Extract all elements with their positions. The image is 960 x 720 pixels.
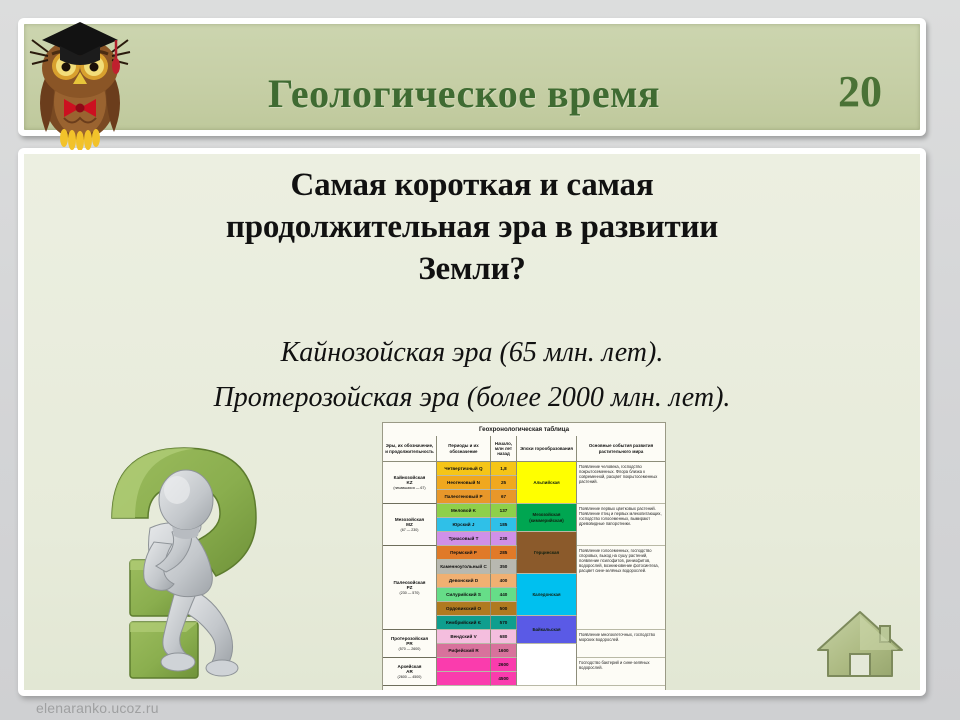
geo-age-cell: 230 xyxy=(491,532,517,546)
header-panel: Геологическое время 20 xyxy=(18,18,926,136)
geo-period-cell: Юрский J xyxy=(437,518,491,532)
geo-period-cell: Неогеновый N xyxy=(437,476,491,490)
geo-age-cell: 400 xyxy=(491,574,517,588)
geo-age-cell: 570 xyxy=(491,616,517,630)
geo-folding-cell: Мезозойская (киммерийская) xyxy=(517,504,577,532)
geo-period-cell: Палеогеновый P xyxy=(437,490,491,504)
geo-period-cell: Девонский D xyxy=(437,574,491,588)
geo-age-cell: 185 xyxy=(491,518,517,532)
geo-events-cell: Господство бактерий и сине-зелёных водор… xyxy=(577,658,665,686)
owl-graduate-icon xyxy=(16,10,144,150)
geo-age-cell: 1600 xyxy=(491,644,517,658)
home-button[interactable] xyxy=(814,602,906,684)
page-title: Геологическое время xyxy=(144,74,784,114)
geo-era-cell: ПалеозойскаяPZ(230 — 570) xyxy=(383,546,437,630)
geo-period-cell: Вендский V xyxy=(437,630,491,644)
slide-stage: Геологическое время 20 xyxy=(0,0,960,720)
answer-line-2: Протерозойская эра (более 2000 млн. лет)… xyxy=(44,375,900,420)
geo-period-cell: Силурийский S xyxy=(437,588,491,602)
geo-age-cell: 285 xyxy=(491,546,517,560)
question-line-3: Земли? xyxy=(54,248,890,290)
geo-era-cell: ПротерозойскаяPR(570 — 2600) xyxy=(383,630,437,658)
content-panel-inner: Самая короткая и самая продолжительная э… xyxy=(24,154,920,690)
question-line-2: продолжительная эра в развитии xyxy=(54,206,890,248)
geo-col-header: Эпохи горообразования xyxy=(517,436,577,462)
geo-folding-cell xyxy=(517,644,577,686)
geo-period-cell: Меловой K xyxy=(437,504,491,518)
geo-period-cell: Ордовикский O xyxy=(437,602,491,616)
geo-folding-cell: Герцинская xyxy=(517,532,577,574)
watermark: elenaranko.ucoz.ru xyxy=(36,700,159,716)
geo-col-header: Основные события развития растительного … xyxy=(577,436,665,462)
geo-events-cell: Появление голосеменных, господство споро… xyxy=(577,546,665,630)
geo-table-grid: Эры, их обозначение, и продолжительность… xyxy=(383,436,665,690)
geo-age-cell: 500 xyxy=(491,602,517,616)
question-points-badge: 20 xyxy=(838,70,882,114)
geo-folding-cell: Альпийская xyxy=(517,462,577,504)
geo-folding-cell: Каледонская xyxy=(517,574,577,616)
content-panel: Самая короткая и самая продолжительная э… xyxy=(18,148,926,696)
geo-period-cell: Кембрийский Є xyxy=(437,616,491,630)
geo-era-cell: АрхейскаяAR(2600 — 4500) xyxy=(383,658,437,686)
geo-period-cell xyxy=(437,658,491,672)
home-icon xyxy=(818,612,902,676)
geo-col-header: Эры, их обозначение, и продолжительность xyxy=(383,436,437,462)
geo-age-cell: 440 xyxy=(491,588,517,602)
geo-period-cell: Четвертичный Q xyxy=(437,462,491,476)
geo-events-cell: Появление человека, господство покрытосе… xyxy=(577,462,665,504)
geo-period-cell: Рифейский R xyxy=(437,644,491,658)
geo-age-cell: 680 xyxy=(491,630,517,644)
geo-age-cell: 2600 xyxy=(491,658,517,672)
geo-age-cell: 1,8 xyxy=(491,462,517,476)
question-text: Самая короткая и самая продолжительная э… xyxy=(54,164,890,291)
geo-age-cell: 67 xyxy=(491,490,517,504)
geo-age-cell: 137 xyxy=(491,504,517,518)
geo-age-cell: 350 xyxy=(491,560,517,574)
geo-col-header: Начало, млн лет назад xyxy=(491,436,517,462)
geo-period-cell xyxy=(437,672,491,686)
geo-period-cell: Каменноугольный C xyxy=(437,560,491,574)
answer-text: Кайнозойская эра (65 млн. лет). Протероз… xyxy=(44,330,900,421)
geo-events-cell: Появление многоклеточных, господство мор… xyxy=(577,630,665,658)
geochronological-table-image: Геохронологическая таблица Эры, их обозн… xyxy=(382,422,666,690)
geo-era-cell: КайнозойскаяKZ(начавшаяся — 67) xyxy=(383,462,437,504)
question-line-1: Самая короткая и самая xyxy=(54,164,890,206)
geo-table-title: Геохронологическая таблица xyxy=(383,423,665,437)
geo-period-cell: Триасовый T xyxy=(437,532,491,546)
geo-folding-cell: Байкальская xyxy=(517,616,577,644)
geo-events-cell: Появление первых цветковых растений. Поя… xyxy=(577,504,665,546)
geo-age-cell: 4500 xyxy=(491,672,517,686)
geo-period-cell: Пермский P xyxy=(437,546,491,560)
geo-age-cell: 25 xyxy=(491,476,517,490)
geo-col-header: Периоды и их обозначение xyxy=(437,436,491,462)
thinker-on-question-mark-icon xyxy=(72,422,322,690)
geo-era-cell: МезозойскаяMZ(67 — 230) xyxy=(383,504,437,546)
answer-line-1: Кайнозойская эра (65 млн. лет). xyxy=(44,330,900,375)
